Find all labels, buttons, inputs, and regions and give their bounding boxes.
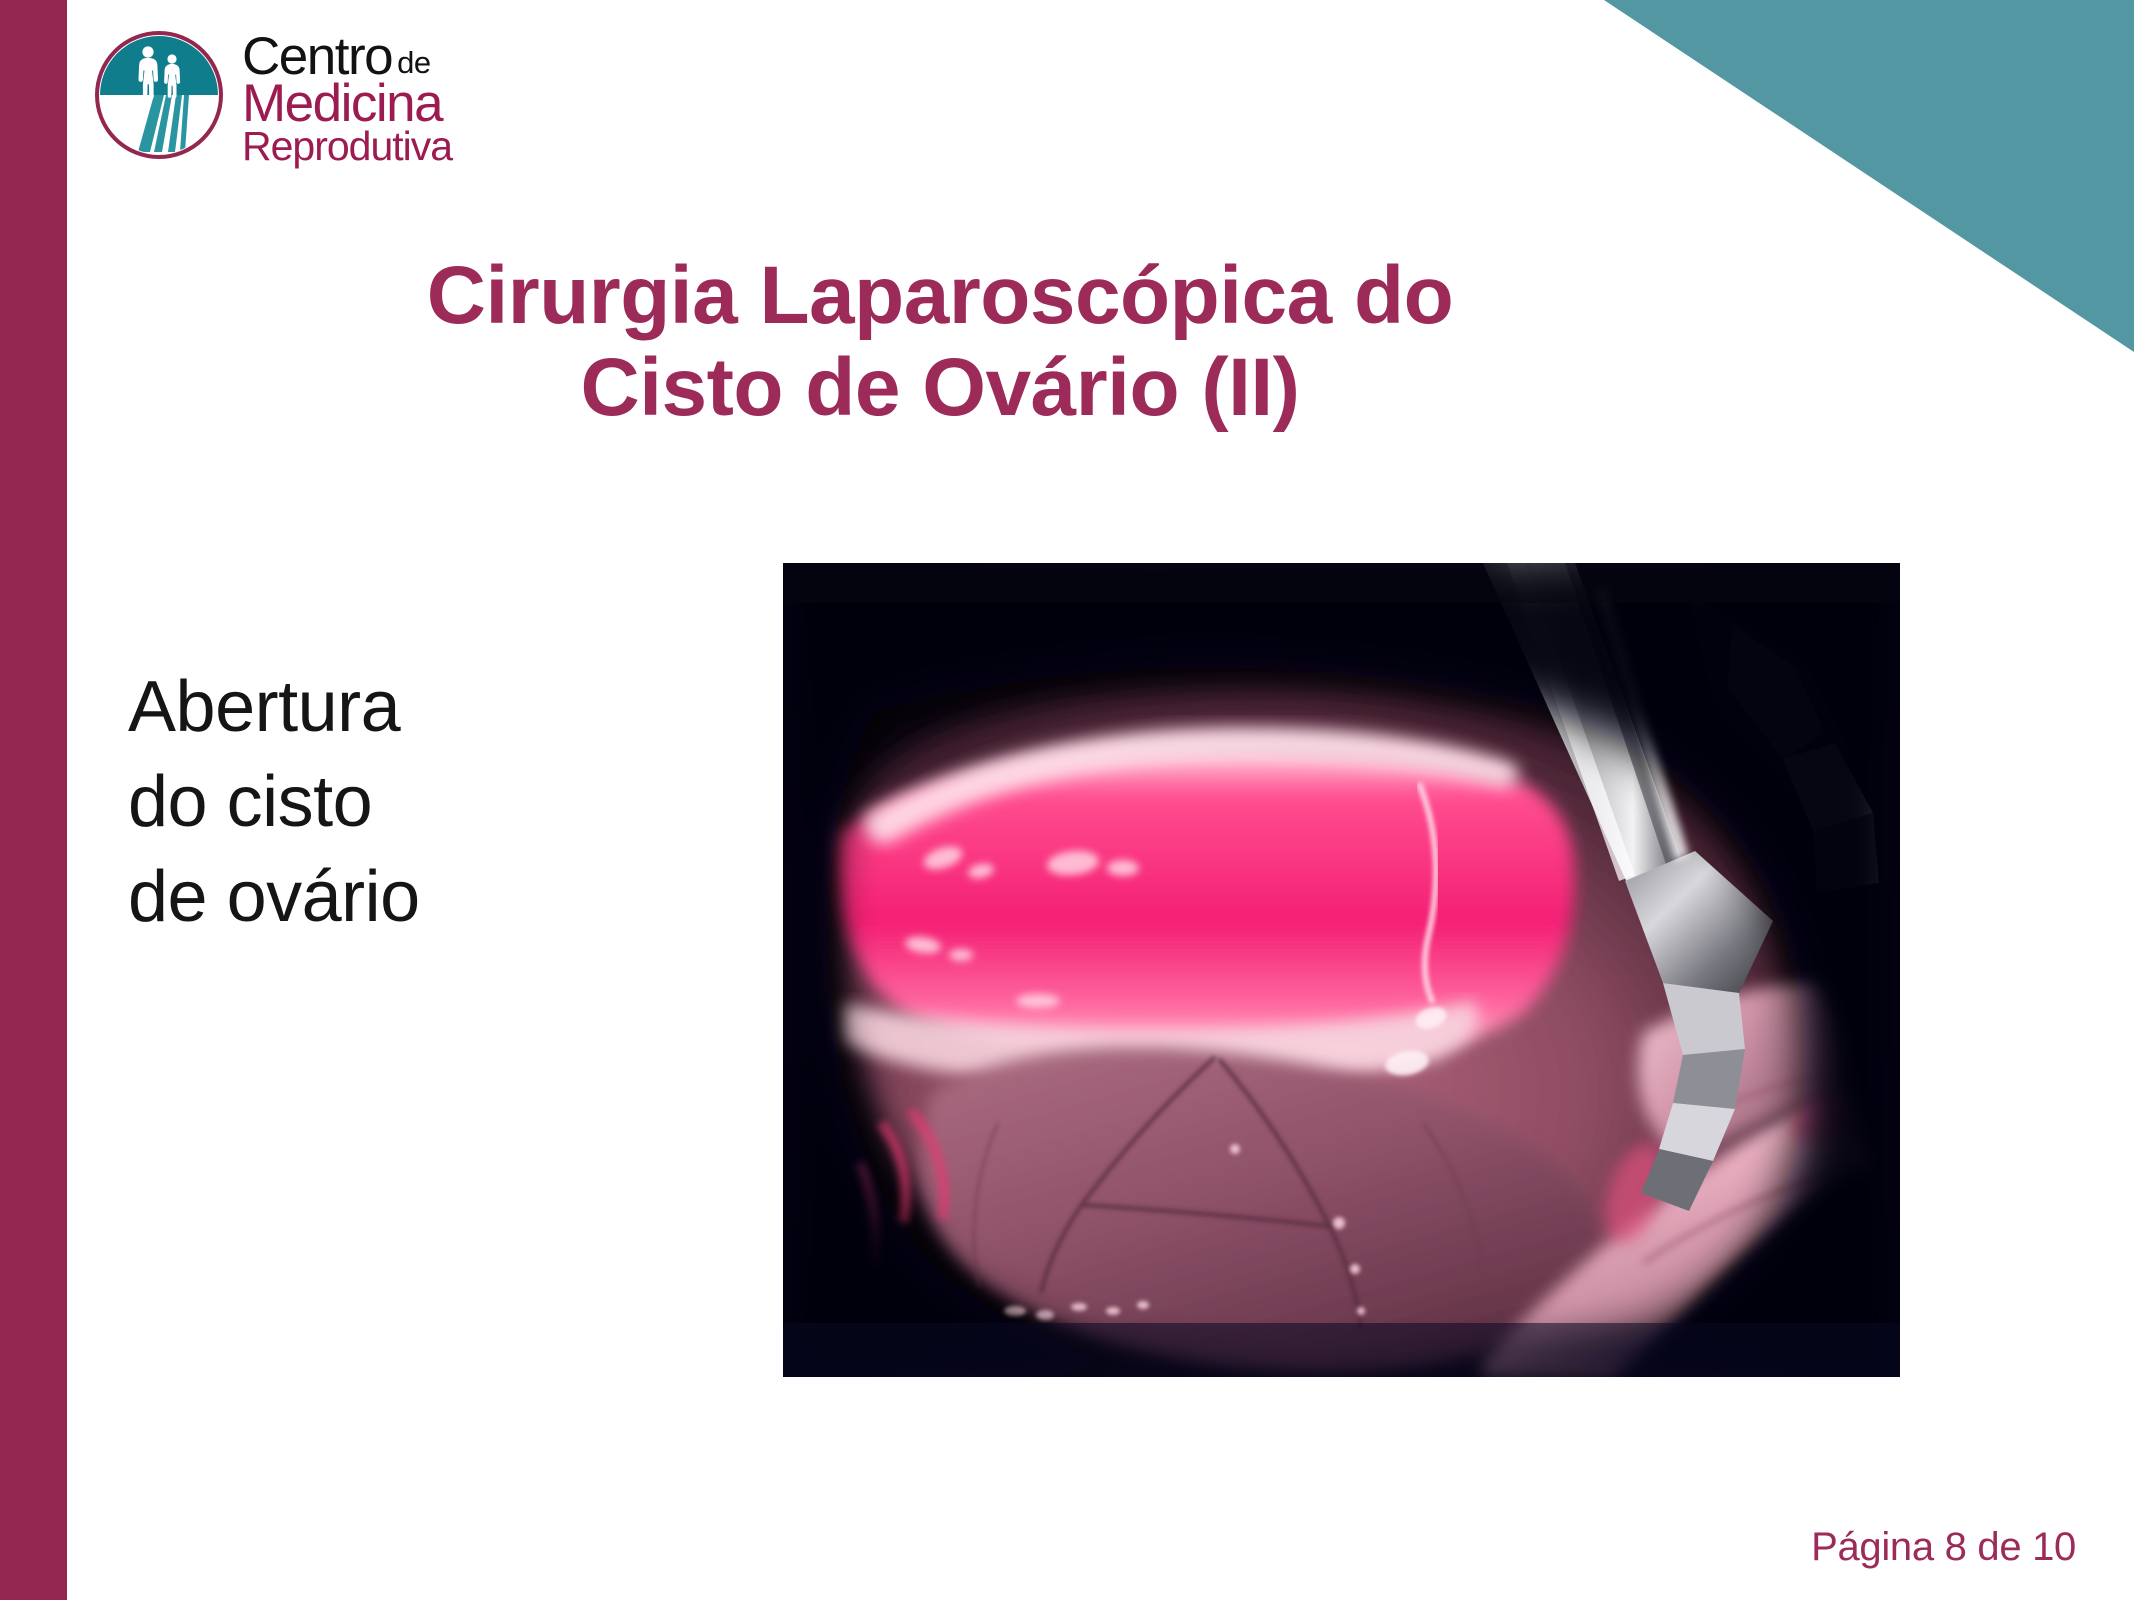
body-caption-line-2: do cisto bbox=[128, 755, 648, 850]
page-number: Página 8 de 10 bbox=[1811, 1525, 2076, 1570]
logo-mark-icon bbox=[92, 28, 226, 162]
laparoscopy-photo bbox=[783, 563, 1900, 1377]
slide-canvas: Centrode Medicina Reprodutiva Cirurgia L… bbox=[0, 0, 2134, 1600]
slide-title: Cirurgia Laparoscópica do Cisto de Ovári… bbox=[230, 250, 1650, 434]
body-caption-line-1: Abertura bbox=[128, 660, 648, 755]
logo-line-reprodutiva: Reprodutiva bbox=[242, 126, 452, 167]
logo-wordmark: Centrode Medicina Reprodutiva bbox=[242, 22, 572, 172]
left-accent-bar bbox=[0, 0, 67, 1600]
brand-logo: Centrode Medicina Reprodutiva bbox=[92, 22, 572, 172]
top-right-corner-triangle bbox=[1604, 0, 2134, 352]
body-caption-line-3: de ovário bbox=[128, 850, 648, 945]
slide-title-line-2: Cisto de Ovário (II) bbox=[230, 342, 1650, 434]
body-caption: Abertura do cisto de ovário bbox=[128, 660, 648, 945]
slide-title-line-1: Cirurgia Laparoscópica do bbox=[230, 250, 1650, 342]
